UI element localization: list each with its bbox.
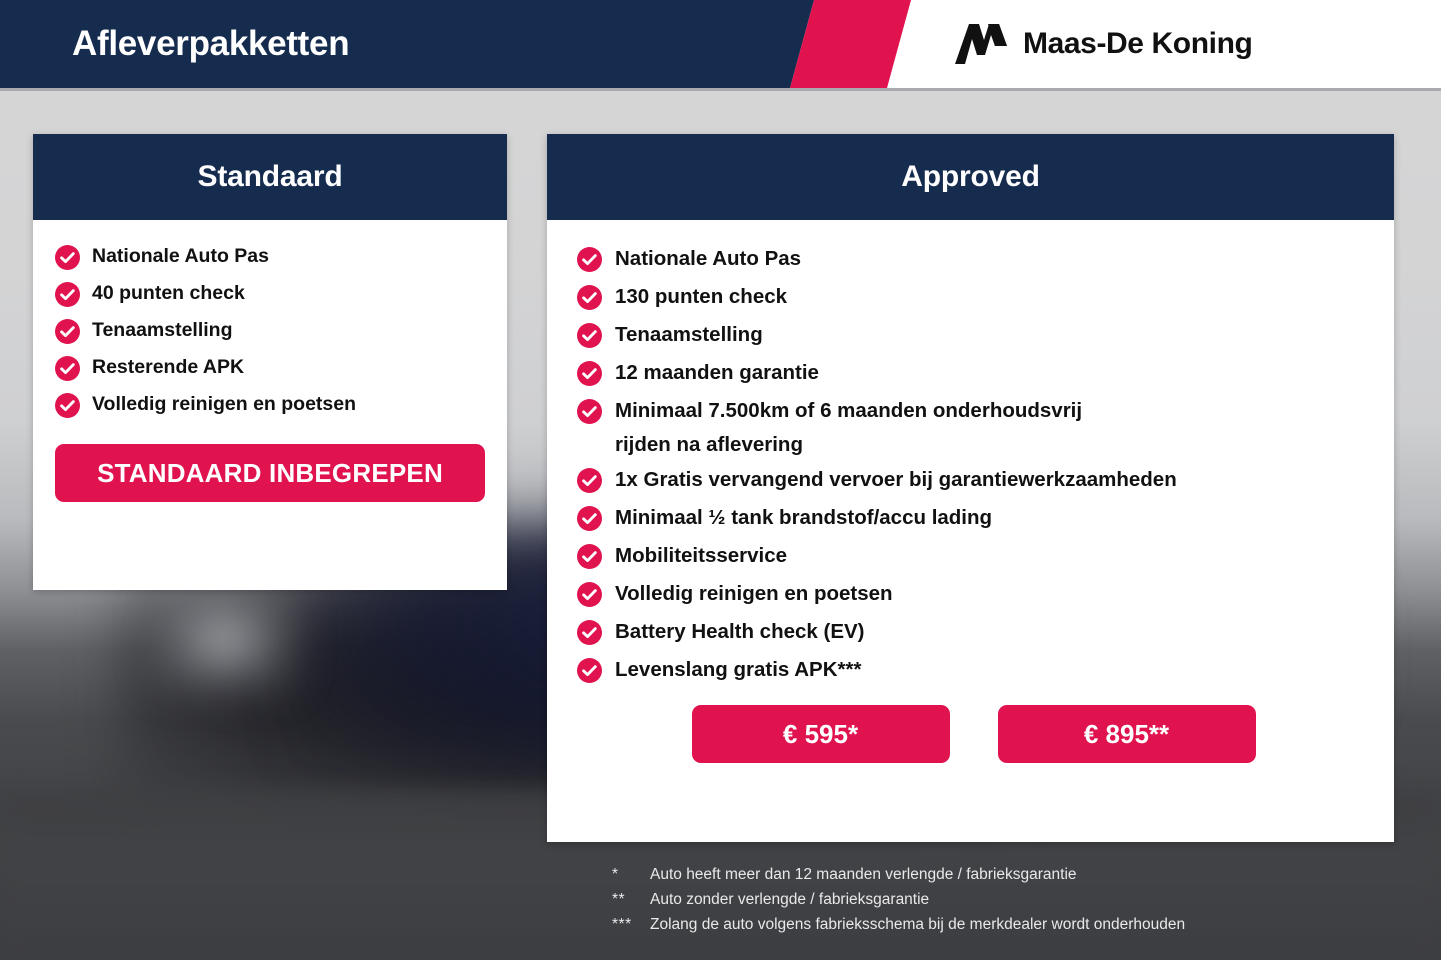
feature-label: Nationale Auto Pas [92, 244, 269, 266]
feature-label-line1: Minimaal 7.500km of 6 maanden onderhouds… [615, 399, 1082, 422]
list-item: Battery Health check (EV) [577, 619, 1370, 645]
check-circle-icon [577, 544, 602, 569]
feature-label: Volledig reinigen en poetsen [615, 581, 893, 605]
package-card-approved: Approved Nationale Auto Pas 130 punten c… [547, 134, 1394, 842]
card-body-standaard: Nationale Auto Pas 40 punten check Tenaa… [33, 220, 507, 502]
package-card-standaard: Standaard Nationale Auto Pas 40 punten c… [33, 134, 507, 590]
list-item: Nationale Auto Pas [55, 244, 485, 270]
feature-label: Tenaamstelling [92, 318, 233, 340]
feature-label: Resterende APK [92, 355, 244, 377]
header-divider [0, 88, 1441, 91]
check-circle-icon [577, 361, 602, 386]
list-item: Tenaamstelling [577, 322, 1370, 348]
check-circle-icon [577, 399, 602, 424]
footnote-text: Auto heeft meer dan 12 maanden verlengde… [650, 862, 1077, 887]
feature-label: 12 maanden garantie [615, 360, 819, 384]
list-item: Tenaamstelling [55, 318, 485, 344]
page-header: Afleverpakketten Maas-De Koning [0, 0, 1441, 88]
footnote-row: *** Zolang de auto volgens fabrieksschem… [612, 912, 1185, 937]
price-button-row: € 595* € 895** [577, 705, 1370, 763]
check-circle-icon [55, 245, 80, 270]
list-item: Minimaal ½ tank brandstof/accu lading [577, 505, 1370, 531]
check-circle-icon [577, 285, 602, 310]
page-title: Afleverpakketten [72, 0, 349, 88]
check-circle-icon [577, 658, 602, 683]
footnote-row: ** Auto zonder verlengde / fabrieksgaran… [612, 887, 1185, 912]
feature-label: Minimaal ½ tank brandstof/accu lading [615, 505, 992, 529]
check-circle-icon [577, 620, 602, 645]
check-circle-icon [577, 582, 602, 607]
price-button-895[interactable]: € 895** [998, 705, 1256, 763]
list-item: Minimaal 7.500km of 6 maanden onderhouds… [577, 398, 1370, 455]
feature-label: Mobiliteitsservice [615, 543, 787, 567]
feature-label: 1x Gratis vervangend vervoer bij garanti… [615, 467, 1177, 491]
list-item: Nationale Auto Pas [577, 246, 1370, 272]
card-title-standaard: Standaard [198, 160, 343, 194]
feature-list-standaard: Nationale Auto Pas 40 punten check Tenaa… [55, 244, 485, 418]
footnote-mark: ** [612, 887, 650, 912]
list-item: 1x Gratis vervangend vervoer bij garanti… [577, 467, 1370, 493]
footnote-row: * Auto heeft meer dan 12 maanden verleng… [612, 862, 1185, 887]
check-circle-icon [577, 506, 602, 531]
check-circle-icon [55, 282, 80, 307]
footnote-mark: *** [612, 912, 650, 937]
list-item: Resterende APK [55, 355, 485, 381]
list-item: Volledig reinigen en poetsen [577, 581, 1370, 607]
list-item: 40 punten check [55, 281, 485, 307]
check-circle-icon [577, 323, 602, 348]
feature-label-line2: rijden na aflevering [615, 434, 1082, 456]
feature-label: 130 punten check [615, 284, 787, 308]
card-header-approved: Approved [547, 134, 1394, 220]
check-circle-icon [55, 356, 80, 381]
price-button-595[interactable]: € 595* [692, 705, 950, 763]
brand-name: Maas-De Koning [1023, 27, 1252, 61]
check-circle-icon [577, 247, 602, 272]
feature-list-approved: Nationale Auto Pas 130 punten check Tena… [577, 246, 1370, 683]
feature-label: Volledig reinigen en poetsen [92, 392, 356, 414]
list-item: 130 punten check [577, 284, 1370, 310]
maas-de-koning-m-logo-icon [955, 24, 1007, 64]
card-title-approved: Approved [901, 160, 1039, 194]
card-body-approved: Nationale Auto Pas 130 punten check Tena… [547, 220, 1394, 763]
list-item: Volledig reinigen en poetsen [55, 392, 485, 418]
check-circle-icon [55, 393, 80, 418]
footnote-mark: * [612, 862, 650, 887]
list-item: Levenslang gratis APK*** [577, 657, 1370, 683]
background-highlight-left [150, 585, 300, 695]
feature-label: Tenaamstelling [615, 322, 763, 346]
feature-label: Nationale Auto Pas [615, 246, 801, 270]
standaard-inbegrepen-button[interactable]: STANDAARD INBEGREPEN [55, 444, 485, 502]
feature-label: 40 punten check [92, 281, 245, 303]
footnotes: * Auto heeft meer dan 12 maanden verleng… [612, 862, 1185, 937]
list-item: Mobiliteitsservice [577, 543, 1370, 569]
check-circle-icon [577, 468, 602, 493]
footnote-text: Zolang de auto volgens fabrieksschema bi… [650, 912, 1185, 937]
feature-label: Levenslang gratis APK*** [615, 657, 861, 681]
poster-root: Afleverpakketten Maas-De Koning Standaar… [0, 0, 1441, 960]
footnote-text: Auto zonder verlengde / fabrieksgarantie [650, 887, 929, 912]
card-header-standaard: Standaard [33, 134, 507, 220]
brand-lockup: Maas-De Koning [955, 0, 1252, 88]
check-circle-icon [55, 319, 80, 344]
feature-label: Battery Health check (EV) [615, 619, 865, 643]
feature-label-wrapped: Minimaal 7.500km of 6 maanden onderhouds… [615, 398, 1082, 455]
list-item: 12 maanden garantie [577, 360, 1370, 386]
